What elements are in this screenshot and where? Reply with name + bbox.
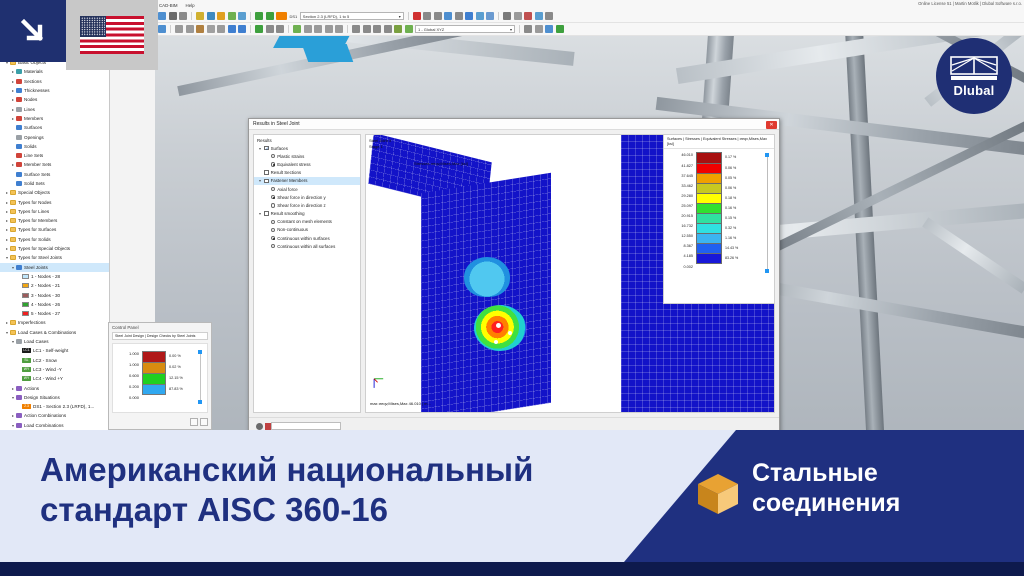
option-label: Fastener Members bbox=[271, 178, 308, 183]
new-icon[interactable] bbox=[158, 12, 166, 20]
arrow-badge bbox=[0, 0, 66, 62]
tree-item-label: Line Sets bbox=[24, 153, 43, 158]
tree-item-label: Types for Solids bbox=[18, 237, 51, 242]
nodes-icon[interactable] bbox=[423, 12, 431, 20]
line-grid-icon[interactable] bbox=[217, 25, 225, 33]
members-icon[interactable] bbox=[444, 12, 452, 20]
tree-item[interactable]: Surface Sets bbox=[0, 170, 109, 179]
radio-button[interactable] bbox=[271, 187, 275, 191]
license-info: Online License 51 | Martin Motlik | Dlub… bbox=[918, 1, 1022, 6]
legend-value: 4.185 bbox=[667, 253, 693, 263]
grid-snap-icon[interactable] bbox=[207, 25, 215, 33]
legend-slider[interactable] bbox=[765, 155, 769, 271]
tree-item-label: Actions bbox=[24, 386, 39, 391]
grey-icon bbox=[16, 339, 22, 344]
option-label: Continuous within surfaces bbox=[277, 236, 329, 241]
folder-icon bbox=[10, 200, 16, 205]
tree-item[interactable]: Load Combinations bbox=[0, 421, 109, 430]
control-panel-percent: 0.00 % bbox=[169, 351, 193, 362]
option-row[interactable]: Result smoothing bbox=[254, 210, 360, 218]
lines-icon[interactable] bbox=[434, 12, 442, 20]
grid-icon[interactable] bbox=[238, 12, 246, 20]
arrow-down-right-icon bbox=[16, 14, 50, 48]
solids-icon[interactable] bbox=[476, 12, 484, 20]
legend-percent: 0.06 % bbox=[725, 183, 751, 193]
select-icon[interactable] bbox=[158, 25, 166, 33]
option-label: Plastic strains bbox=[277, 154, 304, 159]
legend-value: 41.827 bbox=[667, 163, 693, 173]
sets-icon[interactable] bbox=[486, 12, 494, 20]
legend-value: 29.280 bbox=[667, 193, 693, 203]
red-icon bbox=[16, 116, 22, 121]
tree-item-label: LC1 - Self-weight bbox=[33, 348, 68, 353]
tree-item[interactable]: 3 - Nodes - 30 bbox=[0, 290, 109, 299]
tree-item[interactable]: Steel Joints bbox=[0, 263, 109, 272]
viewport-label-joint: Steel Joint 3 bbox=[369, 138, 391, 143]
folder-icon bbox=[10, 237, 16, 242]
control-panel-value: 0.600 bbox=[117, 373, 139, 384]
folder-icon bbox=[10, 209, 16, 214]
tree-item[interactable]: Special Objects bbox=[0, 188, 109, 197]
control-panel-slider[interactable] bbox=[198, 352, 202, 402]
print-icon[interactable] bbox=[179, 12, 187, 20]
tree-item-label: Openings bbox=[24, 135, 44, 140]
legend-value: 46.010 bbox=[667, 152, 693, 162]
color-swatch bbox=[22, 302, 29, 307]
control-panel-percent: 0.02 % bbox=[169, 362, 193, 373]
legend-percent: 0.06 % bbox=[725, 163, 751, 173]
render-icon[interactable] bbox=[217, 12, 225, 20]
red-icon bbox=[16, 97, 22, 102]
eye-icon[interactable] bbox=[256, 423, 263, 430]
tree-item[interactable]: Lines bbox=[0, 104, 109, 113]
tree-item[interactable]: Types for Lines bbox=[0, 207, 109, 216]
legend-value: 8.367 bbox=[667, 243, 693, 253]
color-swatch bbox=[22, 311, 29, 316]
color-swatch bbox=[22, 283, 29, 288]
blue-icon bbox=[16, 125, 22, 130]
blue-icon bbox=[16, 265, 22, 270]
orange-cube-icon bbox=[694, 470, 742, 518]
radio-button[interactable] bbox=[271, 236, 275, 240]
purple-icon bbox=[16, 395, 22, 400]
tree-item-label: 1 - Nodes - 28 bbox=[31, 274, 60, 279]
tree-item[interactable]: Types for Solids bbox=[0, 235, 109, 244]
folder-icon bbox=[10, 255, 16, 260]
tree-item-label: Types for Members bbox=[18, 218, 57, 223]
option-row[interactable]: Plastic strains bbox=[254, 152, 360, 160]
radio-button[interactable] bbox=[271, 244, 275, 248]
coordinate-system-combo[interactable]: 1 - Global XYZ▾ bbox=[415, 25, 515, 33]
legend-values: 46.01041.82737.64533.46229.28025.09720.9… bbox=[667, 152, 693, 273]
legend-value: 33.462 bbox=[667, 183, 693, 193]
legend-value: 20.915 bbox=[667, 213, 693, 223]
tree-item[interactable]: Load Cases bbox=[0, 337, 109, 346]
chevron-down-icon[interactable] bbox=[257, 211, 263, 216]
save-icon[interactable] bbox=[169, 12, 177, 20]
toolbar-primary[interactable]: DS1 Section 2.3 (LRFD), 1 to 5▾ bbox=[155, 10, 1024, 23]
load-case-badge: SL bbox=[22, 358, 31, 363]
control-panel-color-band bbox=[142, 351, 166, 362]
results-options-panel[interactable]: Results SurfacesPlastic strainsEquivalen… bbox=[253, 134, 361, 413]
calculate-icon[interactable] bbox=[255, 12, 263, 20]
chevron-down-icon[interactable] bbox=[257, 178, 263, 183]
tree-item-label: Load Cases & Combinations bbox=[18, 330, 76, 335]
tree-item[interactable]: 2.3DS1 - Section 2.3 (LRFD), 1... bbox=[0, 402, 109, 411]
menu-item-cad-bim[interactable]: CAD-BIM bbox=[159, 3, 178, 8]
control-panel-settings-icon[interactable] bbox=[190, 418, 198, 426]
zoom-icon[interactable] bbox=[207, 12, 215, 20]
option-label: Continuous within all surfaces bbox=[277, 244, 335, 249]
toolbar-secondary[interactable]: 1 - Global XYZ▾ bbox=[155, 23, 1024, 36]
legend-color-band bbox=[696, 152, 722, 162]
tree-item-label: Thicknesses bbox=[24, 88, 50, 93]
tree-item[interactable]: Solid Sets bbox=[0, 179, 109, 188]
design-situation-badge[interactable] bbox=[276, 12, 287, 20]
tree-item-label: Solid Sets bbox=[24, 181, 45, 186]
folder-icon bbox=[10, 227, 16, 232]
option-row[interactable]: Non-continuous bbox=[254, 226, 360, 234]
tree-item[interactable]: Openings bbox=[0, 132, 109, 141]
tree-item-label: DS1 - Section 2.3 (LRFD), 1... bbox=[33, 404, 94, 409]
legend-percent: 0.32 % bbox=[725, 223, 751, 233]
legend-percent: 0.05 % bbox=[725, 173, 751, 183]
logo-wordmark: Dlubal bbox=[954, 83, 995, 98]
pan-icon[interactable] bbox=[228, 12, 236, 20]
tree-item-label: Sections bbox=[24, 79, 42, 84]
tree-item[interactable]: Surfaces bbox=[0, 123, 109, 132]
us-flag-icon bbox=[80, 16, 144, 54]
grey-icon bbox=[16, 135, 22, 140]
tree-item-label: Types for Lines bbox=[18, 209, 49, 214]
isolines-icon[interactable] bbox=[304, 25, 312, 33]
tree-item-label: Types for Surfaces bbox=[18, 227, 56, 232]
tree-item[interactable]: Nodes bbox=[0, 95, 109, 104]
tree-item[interactable]: Types for Nodes bbox=[0, 197, 109, 206]
blue-icon bbox=[16, 88, 22, 93]
option-row[interactable]: Equivalent stress bbox=[254, 160, 360, 168]
legend-percent: 14.43 % bbox=[725, 243, 751, 253]
viewport-unit-label: Stresses σeqv,Mises,Max [ksi] bbox=[414, 161, 468, 166]
radio-button[interactable] bbox=[271, 228, 275, 232]
banner-title: Американский национальный стандарт AISC … bbox=[40, 450, 660, 531]
control-panel-values: 1.0001.0000.6000.2000.000 bbox=[117, 351, 139, 405]
tree-item-label: Load Combinations bbox=[24, 423, 64, 428]
purple-icon bbox=[16, 423, 22, 428]
tree-item[interactable]: 5 - Nodes - 27 bbox=[0, 309, 109, 318]
legend-slider-knob-top[interactable] bbox=[765, 153, 769, 157]
control-panel-knob-top[interactable] bbox=[198, 350, 202, 354]
search-icon[interactable] bbox=[524, 25, 532, 33]
tree-item-label: LC4 - Wind +Y bbox=[33, 376, 63, 381]
load-case-badge: WY bbox=[22, 367, 31, 372]
red-icon bbox=[16, 79, 22, 84]
tree-item[interactable]: Load Cases & Combinations bbox=[0, 328, 109, 337]
results-group-label: Results bbox=[257, 138, 272, 143]
viewport-label-stage: Stage 1 bbox=[369, 144, 383, 149]
red-icon bbox=[16, 162, 22, 167]
option-label: Axial force bbox=[277, 187, 298, 192]
banner-bottom-rule bbox=[0, 562, 1024, 576]
option-label: Surfaces bbox=[271, 146, 288, 151]
control-panel-value: 0.000 bbox=[117, 395, 139, 406]
tree-item-label: Lines bbox=[24, 107, 35, 112]
results-icon[interactable] bbox=[266, 12, 274, 20]
legend-slider-knob-bottom[interactable] bbox=[765, 269, 769, 273]
control-panel-color-band bbox=[142, 373, 166, 384]
tree-item-label: Materials bbox=[24, 69, 43, 74]
flag-container bbox=[66, 0, 158, 70]
control-panel-value: 0.200 bbox=[117, 384, 139, 395]
values-icon[interactable] bbox=[325, 25, 333, 33]
tree-item-label: Load Cases bbox=[24, 339, 49, 344]
plane-icon[interactable] bbox=[266, 25, 274, 33]
tree-item[interactable]: 4 - Nodes - 26 bbox=[0, 300, 109, 309]
banner-subtitle: Стальные соединения bbox=[752, 458, 1002, 518]
radio-button[interactable] bbox=[271, 220, 275, 224]
checkbox[interactable] bbox=[264, 179, 269, 184]
checkbox[interactable] bbox=[264, 146, 269, 151]
surfaces-icon[interactable] bbox=[465, 12, 473, 20]
origin-icon[interactable] bbox=[255, 25, 263, 33]
legend-value: 25.097 bbox=[667, 203, 693, 213]
legend-color-band bbox=[696, 193, 722, 203]
legend-percent: 0.15 % bbox=[725, 213, 751, 223]
tree-item-label: Types for Nodes bbox=[18, 200, 51, 205]
dlubal-logo: Dlubal bbox=[936, 38, 1012, 114]
workplane-icon[interactable] bbox=[276, 25, 284, 33]
tree-item-label: 2 - Nodes - 21 bbox=[31, 283, 60, 288]
tree-item[interactable]: 1 - Nodes - 28 bbox=[0, 272, 109, 281]
legend-value: 16.732 bbox=[667, 223, 693, 233]
cursor-icon[interactable] bbox=[228, 25, 236, 33]
legend-color-band bbox=[696, 243, 722, 253]
supports-icon[interactable] bbox=[455, 12, 463, 20]
footer-input[interactable] bbox=[271, 422, 341, 430]
load-case-badge: 2.3 bbox=[22, 404, 31, 409]
list-icon[interactable] bbox=[352, 25, 360, 33]
tree-item[interactable]: Line Sets bbox=[0, 151, 109, 160]
legend-color-band bbox=[696, 203, 722, 213]
tree-item-label: Design Situations bbox=[24, 395, 60, 400]
bottom-banner: Американский национальный стандарт AISC … bbox=[0, 430, 1024, 576]
legend-percents: 0.17 %0.06 %0.05 %0.06 %0.18 %0.16 %0.15… bbox=[725, 152, 751, 273]
folder-icon bbox=[10, 330, 16, 335]
option-label: Shear force in direction y bbox=[277, 195, 326, 200]
close-icon[interactable]: ✕ bbox=[766, 121, 777, 129]
tree-item[interactable]: Sections bbox=[0, 77, 109, 86]
tree-item[interactable]: Types for Surfaces bbox=[0, 225, 109, 234]
folder-icon bbox=[10, 218, 16, 223]
legend-color-band bbox=[696, 233, 722, 243]
option-label: Constant on mesh elements bbox=[277, 219, 332, 224]
tree-item[interactable]: Members bbox=[0, 114, 109, 123]
option-rows[interactable]: SurfacesPlastic strainsEquivalent stress… bbox=[254, 144, 360, 250]
option-label: Result smoothing bbox=[271, 211, 305, 216]
blue-icon bbox=[16, 144, 22, 149]
tree-item-label: Surfaces bbox=[24, 125, 42, 130]
undo-icon[interactable] bbox=[196, 12, 204, 20]
folder-icon bbox=[10, 246, 16, 251]
tree-item-label: Types for Special Objects bbox=[18, 246, 70, 251]
control-panel-colors-icon[interactable] bbox=[200, 418, 208, 426]
tree-item[interactable]: Types for Members bbox=[0, 216, 109, 225]
control-panel-knob-bottom[interactable] bbox=[198, 400, 202, 404]
legend-color-band bbox=[696, 163, 722, 173]
blue-icon bbox=[16, 181, 22, 186]
option-row[interactable]: Shear force in direction z bbox=[254, 201, 360, 209]
option-row[interactable]: Axial force bbox=[254, 185, 360, 193]
print-report-icon[interactable] bbox=[524, 12, 532, 20]
tree-item-label: 4 - Nodes - 26 bbox=[31, 302, 60, 307]
radio-button[interactable] bbox=[271, 203, 275, 207]
legend-color-band bbox=[696, 223, 722, 233]
control-panel-value: 1.000 bbox=[117, 362, 139, 373]
object-snap-icon[interactable] bbox=[196, 25, 204, 33]
tree-item[interactable]: Design Situations bbox=[0, 393, 109, 402]
tree-item-label: Nodes bbox=[24, 97, 37, 102]
legend-value: 37.645 bbox=[667, 173, 693, 183]
stress-legend[interactable]: Surfaces | Stresses | Equivalent Stresse… bbox=[663, 134, 775, 304]
option-row[interactable]: Continuous within all surfaces bbox=[254, 242, 360, 250]
option-label: Equivalent stress bbox=[277, 162, 310, 167]
legend-color-band bbox=[696, 183, 722, 193]
dialog-title: Results in Steel Joint bbox=[249, 119, 779, 130]
option-label: Shear force in direction z bbox=[277, 203, 326, 208]
option-row[interactable]: Continuous within surfaces bbox=[254, 234, 360, 242]
layers-icon[interactable] bbox=[535, 25, 543, 33]
tree-item[interactable]: Imperfections bbox=[0, 318, 109, 327]
tree-item-label: Solids bbox=[24, 144, 37, 149]
section-combo[interactable]: Section 2.3 (LRFD), 1 to 5▾ bbox=[300, 12, 404, 20]
option-row[interactable]: Result Sections bbox=[254, 169, 360, 177]
results-in-steel-joint-dialog[interactable]: Results in Steel Joint ✕ Results Surface… bbox=[248, 118, 780, 436]
snap-icon[interactable] bbox=[175, 25, 183, 33]
tree-item[interactable]: WYLC4 - Wind +Y bbox=[0, 374, 109, 383]
menu-bar[interactable]: CAD-BIM Help Online License 51 | Martin … bbox=[155, 0, 1024, 10]
table-icon[interactable] bbox=[363, 25, 371, 33]
tree-item-label: 3 - Nodes - 30 bbox=[31, 293, 60, 298]
tree-rows[interactable]: Basic ObjectsMaterialsSectionsThicknesse… bbox=[0, 58, 109, 440]
tree-item[interactable]: Action Combinations bbox=[0, 411, 109, 420]
legend-percent: 0.16 % bbox=[725, 203, 751, 213]
purple-icon bbox=[16, 413, 22, 418]
legend-color-band bbox=[696, 253, 722, 263]
settings-icon[interactable] bbox=[545, 12, 553, 20]
option-row[interactable]: Shear force in direction y bbox=[254, 193, 360, 201]
refresh-icon[interactable] bbox=[556, 25, 564, 33]
red-icon bbox=[16, 153, 22, 158]
checkbox[interactable] bbox=[264, 170, 269, 175]
control-panel-bars bbox=[142, 351, 166, 405]
tree-item[interactable]: 2 - Nodes - 21 bbox=[0, 281, 109, 290]
color-swatch bbox=[22, 293, 29, 298]
folder-icon bbox=[10, 320, 16, 325]
tree-item-label: Types for Steel Joints bbox=[18, 255, 62, 260]
legend-color-band bbox=[696, 213, 722, 223]
tree-item[interactable]: SLLC2 - Snow bbox=[0, 356, 109, 365]
tree-item[interactable]: Types for Special Objects bbox=[0, 244, 109, 253]
export-icon[interactable] bbox=[535, 12, 543, 20]
option-label: Result Sections bbox=[271, 170, 302, 175]
tree-item-label: Members bbox=[24, 116, 43, 121]
max-stress-unit: | m... bbox=[422, 401, 431, 406]
control-panel-percents: 0.00 %0.02 %12.15 %87.83 % bbox=[169, 351, 193, 405]
view-icon[interactable] bbox=[503, 12, 511, 20]
tree-item[interactable]: Actions bbox=[0, 383, 109, 392]
tree-item[interactable]: LC1LC1 - Self-weight bbox=[0, 346, 109, 355]
contour-icon[interactable] bbox=[314, 25, 322, 33]
control-panel-title: Control Panel bbox=[112, 325, 139, 330]
tree-item[interactable]: Member Sets bbox=[0, 160, 109, 169]
radio-button[interactable] bbox=[271, 195, 275, 199]
grey-icon bbox=[16, 107, 22, 112]
tree-item-label: LC2 - Snow bbox=[33, 358, 57, 363]
control-panel-color-band bbox=[142, 362, 166, 373]
tree-item-label: Member Sets bbox=[24, 162, 51, 167]
control-panel[interactable]: Control Panel Steel Joint Design | Desig… bbox=[108, 322, 212, 430]
measure-icon[interactable] bbox=[394, 25, 402, 33]
legend-color-band bbox=[696, 173, 722, 183]
axes-triad-icon bbox=[372, 376, 386, 390]
tree-item[interactable]: Thicknesses bbox=[0, 86, 109, 95]
tree-item-label: Steel Joints bbox=[24, 265, 48, 270]
tree-item-label: Special Objects bbox=[18, 190, 50, 195]
radio-button[interactable] bbox=[271, 162, 275, 166]
tree-item-label: LC3 - Wind -Y bbox=[33, 367, 62, 372]
option-row[interactable]: Constant on mesh elements bbox=[254, 218, 360, 226]
tree-item-label: Action Combinations bbox=[24, 413, 66, 418]
ortho-icon[interactable] bbox=[186, 25, 194, 33]
load-case-badge: WY bbox=[22, 376, 31, 381]
checkbox[interactable] bbox=[264, 211, 269, 216]
tree-item-label: 5 - Nodes - 27 bbox=[31, 311, 60, 316]
display-icon[interactable] bbox=[514, 12, 522, 20]
tree-item[interactable]: Types for Steel Joints bbox=[0, 253, 109, 262]
pointer-icon[interactable] bbox=[238, 25, 246, 33]
blue-icon bbox=[16, 172, 22, 177]
diagram-icon[interactable] bbox=[335, 25, 343, 33]
option-row[interactable]: Fastener Members bbox=[254, 177, 360, 185]
radio-button[interactable] bbox=[271, 154, 275, 158]
load-case-badge: LC1 bbox=[22, 348, 31, 353]
option-label: Non-continuous bbox=[277, 227, 308, 232]
legend-value: 12.550 bbox=[667, 233, 693, 243]
filter-icon[interactable] bbox=[373, 25, 381, 33]
control-panel-tab[interactable]: Steel Joint Design | Design Checks by St… bbox=[112, 332, 208, 340]
tree-item[interactable]: Solids bbox=[0, 142, 109, 151]
folder-icon bbox=[10, 190, 16, 195]
legend-percent: 1.16 % bbox=[725, 233, 751, 243]
legend-percent: 0.17 % bbox=[725, 152, 751, 162]
tree-item[interactable]: WYLC3 - Wind -Y bbox=[0, 365, 109, 374]
deformation-icon[interactable] bbox=[293, 25, 301, 33]
cs-icon[interactable] bbox=[405, 25, 413, 33]
truss-bridge-icon bbox=[949, 55, 999, 81]
menu-item-help[interactable]: Help bbox=[186, 3, 195, 8]
chevron-down-icon[interactable] bbox=[257, 146, 263, 151]
legend-value: 0.002 bbox=[667, 264, 693, 274]
option-row[interactable]: Surfaces bbox=[254, 144, 360, 152]
tree-item-label: Imperfections bbox=[18, 320, 46, 325]
max-stress-label: max σeqv,Mises,Max bbox=[370, 401, 408, 406]
loads-icon[interactable] bbox=[413, 12, 421, 20]
tree-item-label: Surface Sets bbox=[24, 172, 50, 177]
angle-icon[interactable] bbox=[384, 25, 392, 33]
legend-header: Surfaces | Stresses | Equivalent Stresse… bbox=[664, 135, 774, 149]
control-panel-percent: 12.15 % bbox=[169, 373, 193, 384]
visibility-icon[interactable] bbox=[545, 25, 553, 33]
